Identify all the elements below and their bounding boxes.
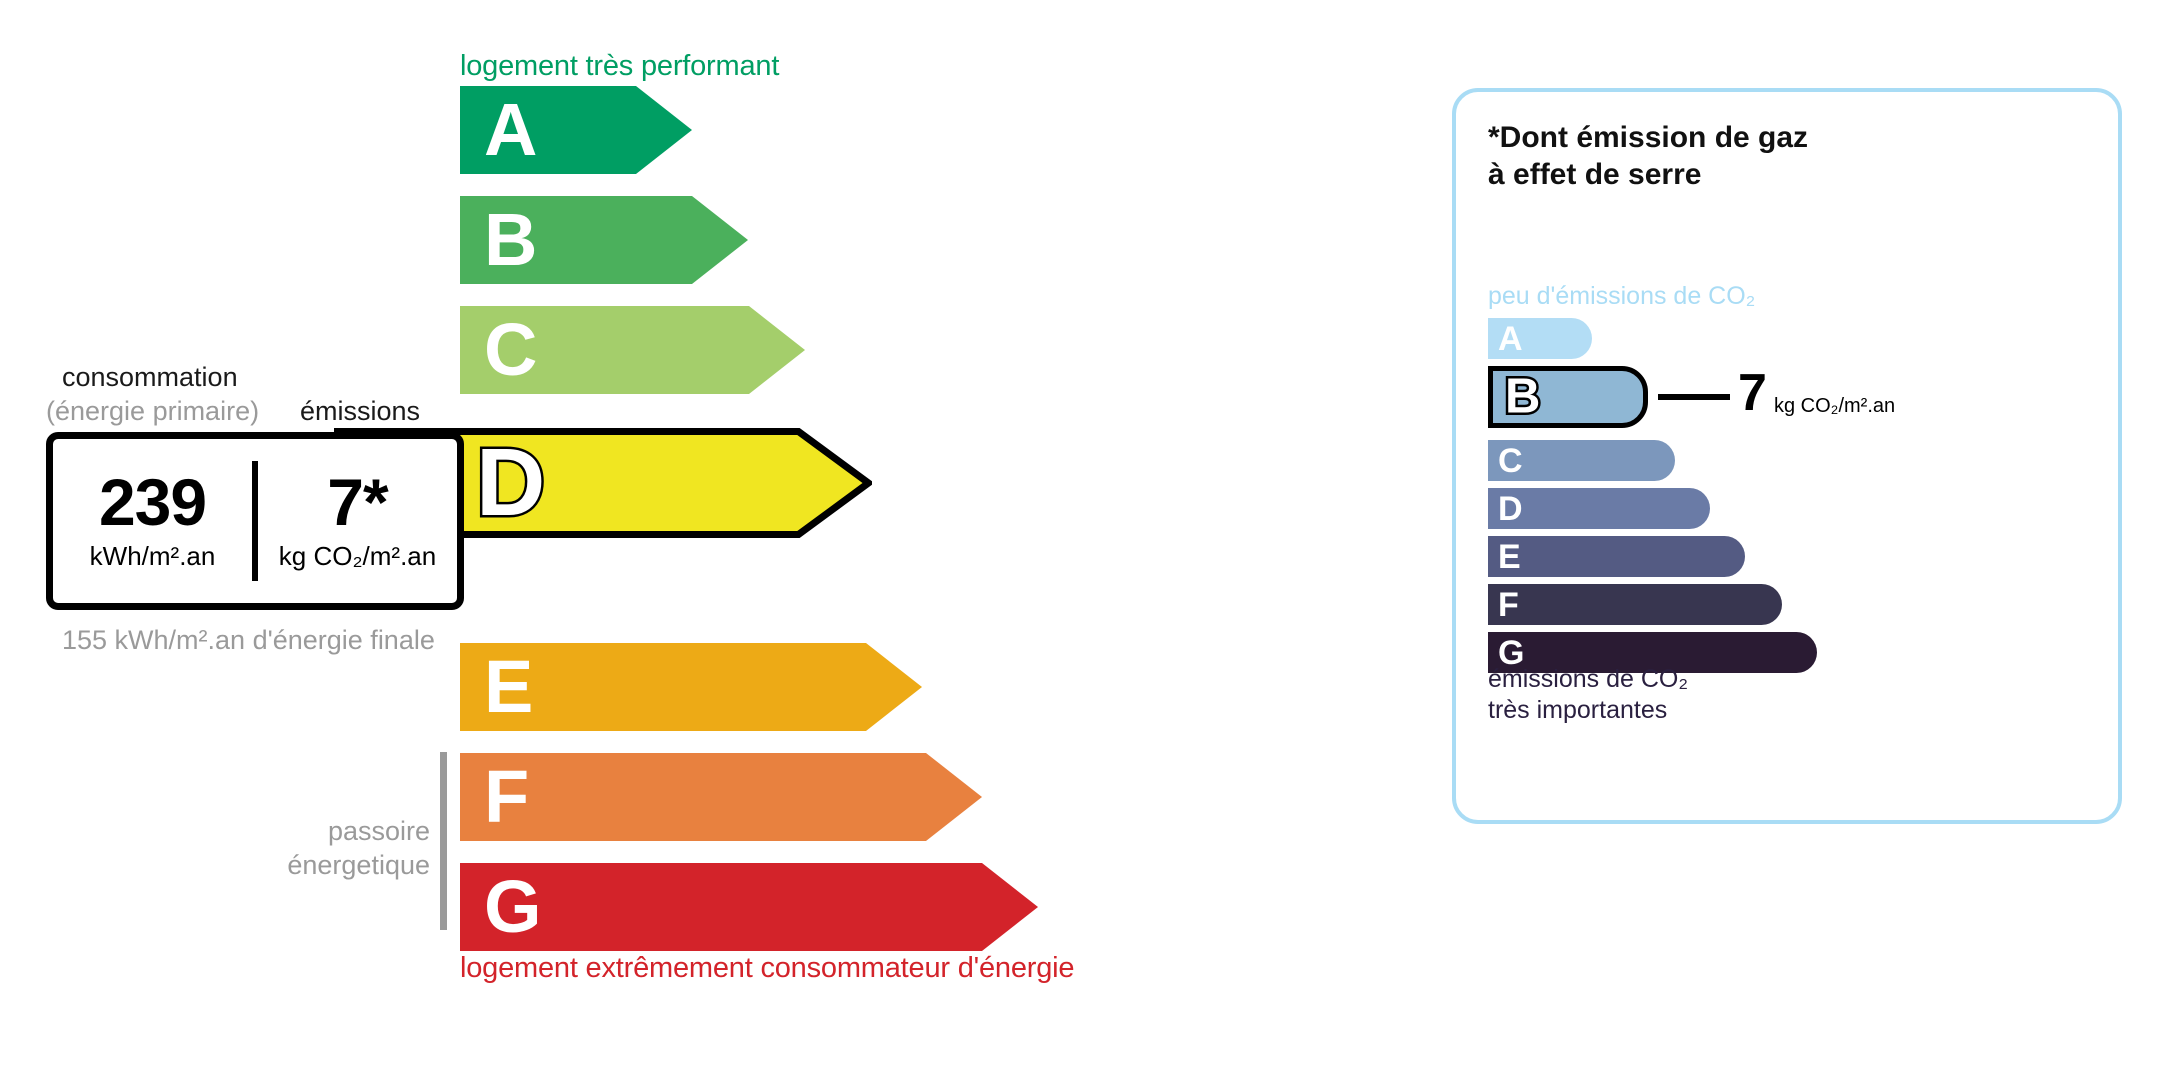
passoire-bracket-rule	[440, 752, 447, 930]
co2-bar-letter-c: C	[1498, 444, 1523, 478]
energy-bar-letter-e: E	[484, 650, 533, 724]
energy-bar-g: G	[460, 863, 1038, 951]
energy-bar-letter-d: D	[476, 435, 545, 531]
emission-unit: kg CO₂/m².an	[279, 541, 436, 572]
consumption-value-cell: 239 kWh/m².an	[53, 439, 252, 603]
consumption-header-label: consommation	[62, 362, 238, 393]
co2-bar-letter-e: E	[1498, 540, 1521, 574]
passoire-energetique-label: passoire énergetique	[200, 815, 430, 883]
energy-bottom-caption: logement extrêmement consommateur d'éner…	[460, 952, 1074, 985]
energy-top-caption: logement très performant	[460, 50, 779, 83]
co2-emissions-panel: *Dont émission de gaz à effet de serre p…	[1452, 88, 2122, 824]
energy-bar-letter-g: G	[484, 870, 542, 944]
rating-value-box: 239 kWh/m².an 7* kg CO₂/m².an	[46, 432, 464, 610]
co2-top-caption: peu d'émissions de CO₂	[1488, 282, 1755, 311]
co2-value: 7	[1738, 367, 1767, 419]
consumption-header-sublabel: (énergie primaire)	[46, 396, 259, 427]
energy-bar-c: C	[460, 306, 805, 394]
energy-bar-letter-a: A	[484, 93, 537, 167]
energy-rating-panel: logement très performant ABCDEFG logemen…	[0, 0, 1400, 1079]
co2-bar-e: E	[1488, 536, 1745, 577]
energy-bar-a: A	[460, 86, 692, 174]
co2-bottom-caption: émissions de CO₂ très importantes	[1488, 664, 1688, 727]
energy-bar-letter-c: C	[484, 313, 537, 387]
energy-bar-shape-f	[460, 753, 982, 841]
emissions-header-label: émissions	[300, 396, 420, 427]
emission-value: 7*	[327, 470, 387, 535]
co2-value-unit: kg CO₂/m².an	[1774, 395, 1895, 418]
co2-panel-title: *Dont émission de gaz à effet de serre	[1488, 120, 1808, 193]
co2-bar-letter-a: A	[1498, 322, 1523, 356]
energy-bar-e: E	[460, 643, 922, 731]
consumption-value: 239	[99, 470, 206, 535]
co2-bar-b: B	[1488, 366, 1648, 428]
energy-bar-b: B	[460, 196, 748, 284]
energy-bar-shape-g	[460, 863, 1038, 951]
emission-value-cell: 7* kg CO₂/m².an	[258, 439, 457, 603]
co2-bar-c: C	[1488, 440, 1675, 481]
energy-bar-f: F	[460, 753, 982, 841]
co2-bar-letter-b: B	[1505, 373, 1540, 422]
final-energy-note: 155 kWh/m².an d'énergie finale	[62, 624, 435, 658]
energy-bar-letter-f: F	[484, 760, 529, 834]
co2-bar-d: D	[1488, 488, 1710, 529]
consumption-unit: kWh/m².an	[90, 541, 216, 572]
energy-bar-letter-b: B	[484, 203, 537, 277]
co2-bar-a: A	[1488, 318, 1592, 359]
co2-leader-line	[1658, 394, 1730, 400]
co2-bar-f: F	[1488, 584, 1782, 625]
co2-bar-letter-d: D	[1498, 492, 1523, 526]
co2-bar-letter-f: F	[1498, 588, 1519, 622]
